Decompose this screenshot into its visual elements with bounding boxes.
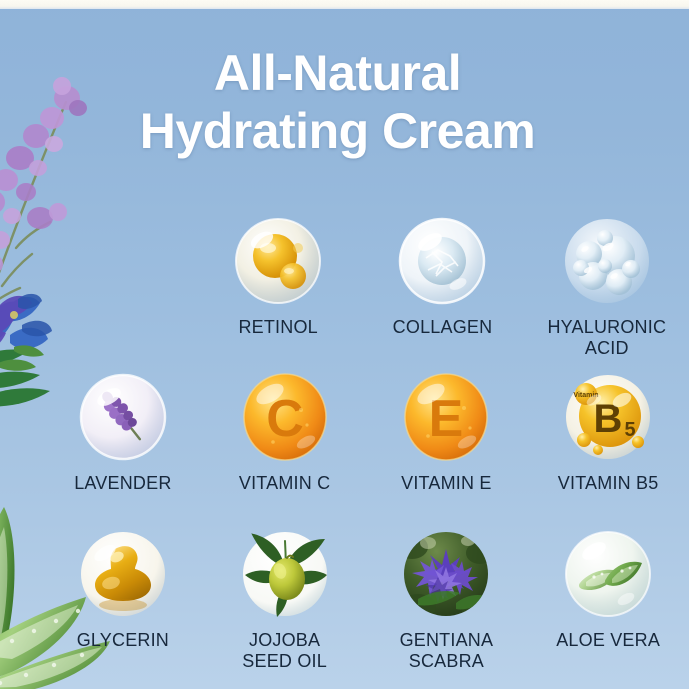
vitamin-b5-droplet-icon: B 5 Vitamin bbox=[560, 370, 656, 466]
glycerin-droplet-icon bbox=[75, 527, 171, 623]
title-line-2: Hydrating Cream bbox=[0, 102, 675, 160]
ingredient-label: LAVENDER bbox=[74, 473, 171, 494]
retinol-droplet-icon bbox=[230, 214, 326, 310]
jojoba-fruit-icon bbox=[237, 527, 333, 623]
collagen-sphere-icon bbox=[394, 214, 490, 310]
ingredient-label: VITAMIN E bbox=[401, 473, 491, 494]
lavender-droplet-icon bbox=[75, 370, 171, 466]
ingredient-jojoba-seed-oil[interactable]: JOJOBA SEED OIL bbox=[204, 527, 366, 672]
ingredient-retinol[interactable]: RETINOL bbox=[196, 214, 360, 359]
vitamin-c-sphere-icon: C bbox=[237, 370, 333, 466]
ingredient-label: RETINOL bbox=[238, 317, 317, 338]
hyaluronic-bubbles-icon bbox=[559, 214, 655, 310]
ingredient-label: VITAMIN C bbox=[239, 473, 330, 494]
ingredient-label: JOJOBA SEED OIL bbox=[242, 630, 327, 672]
ingredient-vitamin-b5[interactable]: B 5 Vitamin VITAMIN B5 bbox=[527, 370, 689, 494]
ingredient-row-1: RETINOL bbox=[196, 214, 689, 359]
ingredient-label: GENTIANA SCABRA bbox=[400, 630, 494, 672]
ingredient-label: COLLAGEN bbox=[393, 317, 493, 338]
ingredient-label: GLYCERIN bbox=[77, 630, 169, 651]
ingredient-gentiana-scabra[interactable]: GENTIANA SCABRA bbox=[366, 527, 528, 672]
top-edge-strip bbox=[0, 0, 689, 9]
product-infographic-poster: All-Natural Hydrating Cream bbox=[0, 0, 689, 689]
title-line-1: All-Natural bbox=[0, 44, 675, 102]
ingredient-hyaluronic-acid[interactable]: HYALURONIC ACID bbox=[525, 214, 689, 359]
ingredient-aloe-vera[interactable]: ALOE VERA bbox=[527, 527, 689, 672]
ingredient-vitamin-e[interactable]: E VITAMIN E bbox=[366, 370, 528, 494]
gentiana-flower-icon bbox=[398, 527, 494, 623]
ingredient-collagen[interactable]: COLLAGEN bbox=[360, 214, 524, 359]
ingredient-label: VITAMIN B5 bbox=[558, 473, 659, 494]
ingredient-lavender[interactable]: LAVENDER bbox=[42, 370, 204, 494]
ingredient-label: HYALURONIC ACID bbox=[547, 317, 666, 359]
ingredient-label: ALOE VERA bbox=[556, 630, 660, 651]
ingredient-vitamin-c[interactable]: C VITAMIN C bbox=[204, 370, 366, 494]
aloe-vera-icon bbox=[560, 527, 656, 623]
vitamin-e-sphere-icon: E bbox=[398, 370, 494, 466]
ingredient-row-2: LAVENDER C bbox=[42, 370, 689, 494]
ingredient-glycerin[interactable]: GLYCERIN bbox=[42, 527, 204, 672]
page-title: All-Natural Hydrating Cream bbox=[0, 44, 689, 160]
ingredient-row-3: GLYCERIN bbox=[42, 527, 689, 672]
